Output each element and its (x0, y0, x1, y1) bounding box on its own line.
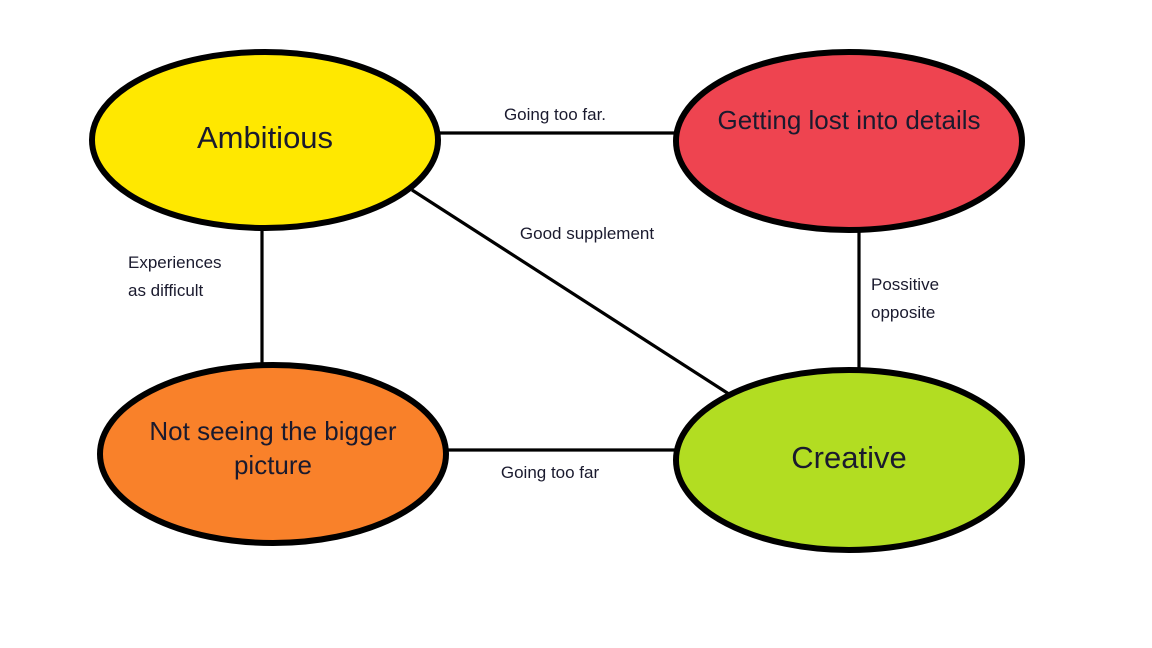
node-ambitious[interactable]: Ambitious (92, 52, 438, 228)
edge-label-ambitious-to-details: Going too far. (504, 105, 606, 124)
node-label-line: Ambitious (197, 120, 333, 155)
node-label-line: Getting lost into details (717, 105, 980, 135)
edge-label-line: Experiences (128, 253, 222, 272)
edge-label-ambitious-to-bigger-picture: Experiencesas difficult (128, 253, 222, 300)
node-not-seeing-the-bigger-picture[interactable]: Not seeing the biggerpicture (100, 365, 446, 543)
node-label-ambitious: Ambitious (197, 120, 333, 155)
diagram-canvas: AmbitiousGetting lost into detailsNot se… (0, 0, 1152, 648)
edge-label-line: Going too far. (504, 105, 606, 124)
node-label-line: Creative (791, 440, 906, 475)
node-shape-getting-lost-into-details[interactable] (676, 52, 1022, 230)
edge-line-ambitious-to-creative (412, 190, 732, 396)
node-label-line: Not seeing the bigger (149, 416, 397, 446)
edge-label-line: as difficult (128, 281, 204, 300)
edge-label-line: Possitive (871, 275, 939, 294)
edge-label-ambitious-to-creative: Good supplement (520, 224, 654, 243)
node-creative[interactable]: Creative (676, 370, 1022, 550)
diagram-svg: AmbitiousGetting lost into detailsNot se… (0, 0, 1152, 648)
edge-label-bigger-picture-to-creative: Going too far (501, 463, 600, 482)
node-label-creative: Creative (791, 440, 906, 475)
node-getting-lost-into-details[interactable]: Getting lost into details (676, 52, 1022, 230)
edge-label-line: Going too far (501, 463, 600, 482)
edge-label-details-to-creative: Possitiveopposite (871, 275, 939, 322)
edge-label-line: Good supplement (520, 224, 654, 243)
node-label-getting-lost-into-details: Getting lost into details (717, 105, 980, 135)
edge-label-line: opposite (871, 303, 935, 322)
node-label-line: picture (234, 450, 312, 480)
